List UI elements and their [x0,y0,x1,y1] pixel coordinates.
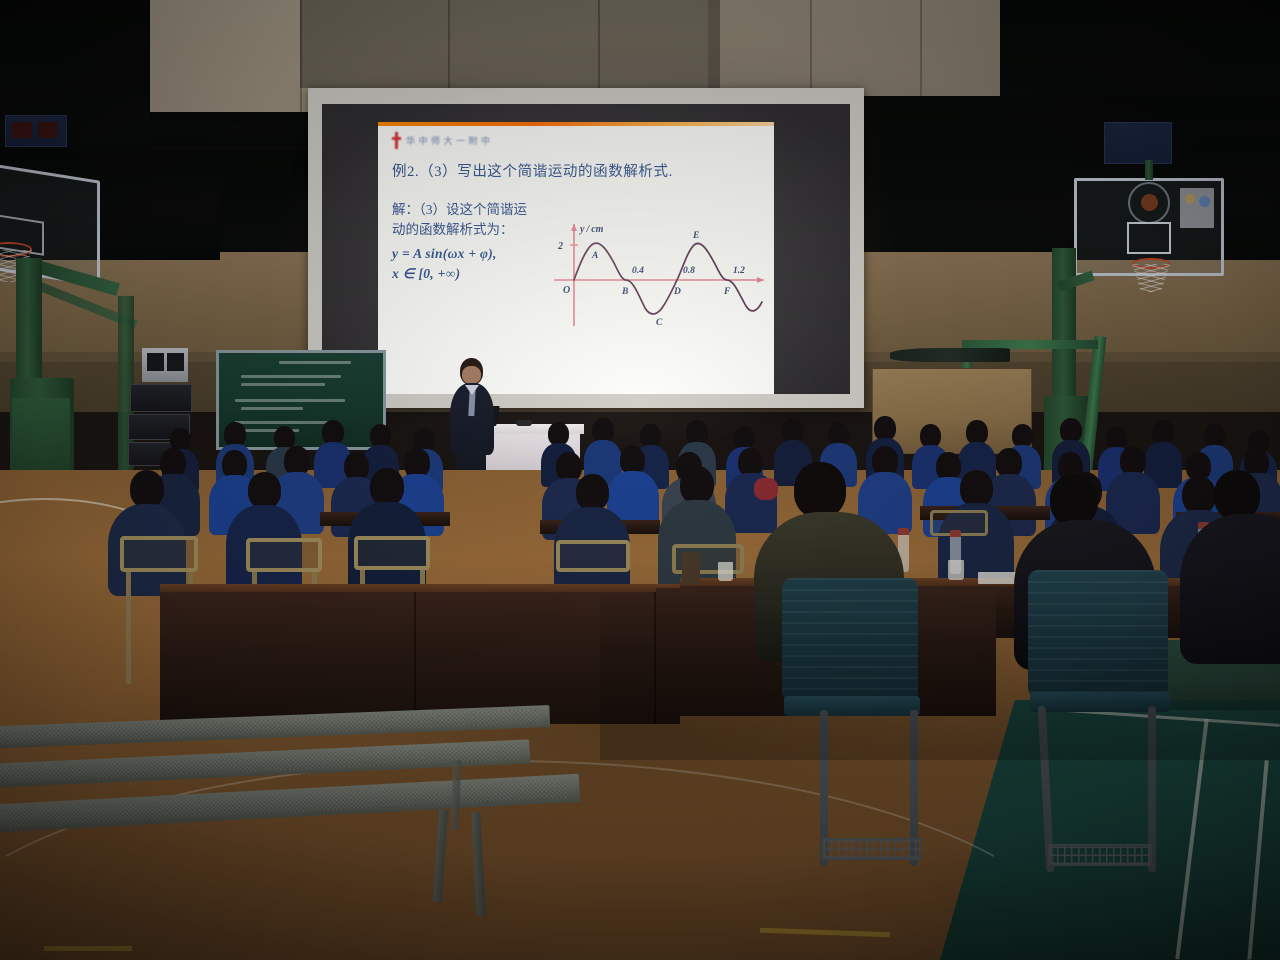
thermos [682,552,700,584]
svg-text:2: 2 [557,241,563,252]
chair-back [556,540,630,572]
red-cross-mark-icon [392,132,401,149]
svg-text:0.4: 0.4 [632,266,644,276]
backboard-ad-right [1180,188,1214,228]
wall-panel-right [708,0,1008,96]
cabinet-top-object [890,348,1010,362]
chalk-writing [235,399,345,402]
paper-cup [718,562,733,581]
teacher-face [462,366,481,384]
svg-text:y / cm: y / cm [579,224,604,235]
chalk-writing [241,407,303,410]
sine-wave-graph: 2 y / cm O A B C D E F 0.4 0.8 1.2 [546,218,772,330]
chalk-writing [241,375,341,378]
domain-line: x ∈ [0, +∞) [392,264,527,284]
podium-item [516,420,532,426]
curtain-above-screen [300,0,720,88]
hoop-logo-ball [1141,194,1158,211]
solution-line-2: 动的函数解析式为： [392,220,527,240]
svg-text:B: B [621,287,628,297]
chair-basket [1048,844,1152,866]
slide-title: 例2.（3）写出这个简谐运动的函数解析式. [392,160,673,181]
svg-text:A: A [591,251,598,261]
svg-text:O: O [563,285,570,296]
chair-back [120,536,198,572]
chair-back [782,578,918,702]
hoop-pole-right [1052,248,1076,408]
chalk-writing [241,383,325,386]
solution-line-1: 解：（3）设这个简谐运 [392,200,527,220]
chair-back [1028,570,1168,698]
chalk-writing [279,361,351,364]
presentation-slide: 华中师大一附中 例2.（3）写出这个简谐运动的函数解析式. 解：（3）设这个简谐… [378,122,774,394]
slide-body: 解：（3）设这个简谐运 动的函数解析式为： y = A sin(ωx + φ),… [392,200,527,284]
chair-basket [822,838,922,860]
svg-text:F: F [723,287,731,297]
chalk-writing [235,421,331,424]
court-line-yellow-2 [44,946,132,951]
hoop-pole-left [16,258,42,388]
slide-accent-bar [378,122,774,126]
hoop-stem-right [1145,160,1153,180]
chair-leg [126,572,131,684]
rack-unit [130,384,192,412]
school-logo: 华中师大一附中 [392,132,494,149]
formula-line: y = A sin(ωx + φ), [392,244,527,264]
backboard-inner-square-right [1127,222,1171,254]
front-table [160,592,680,724]
svg-text:D: D [673,287,681,297]
chair-back [354,536,430,570]
gymnasium-lecture-scene: 华中师大一附中 例2.（3）写出这个简谐运动的函数解析式. 解：（3）设这个简谐… [0,0,1280,960]
svg-text:C: C [656,318,663,328]
svg-text:E: E [692,231,699,241]
wall-seam [920,0,922,96]
front-table-seam [414,592,416,724]
svg-text:1.2: 1.2 [733,266,745,276]
wall-seam [810,0,812,96]
svg-text:0.8: 0.8 [683,266,695,276]
chair-back [246,538,322,572]
chair-seat [784,696,920,716]
school-logo-text: 华中师大一附中 [406,134,494,147]
shot-clock-icon-right [1104,122,1172,164]
paper-cup [948,560,964,580]
